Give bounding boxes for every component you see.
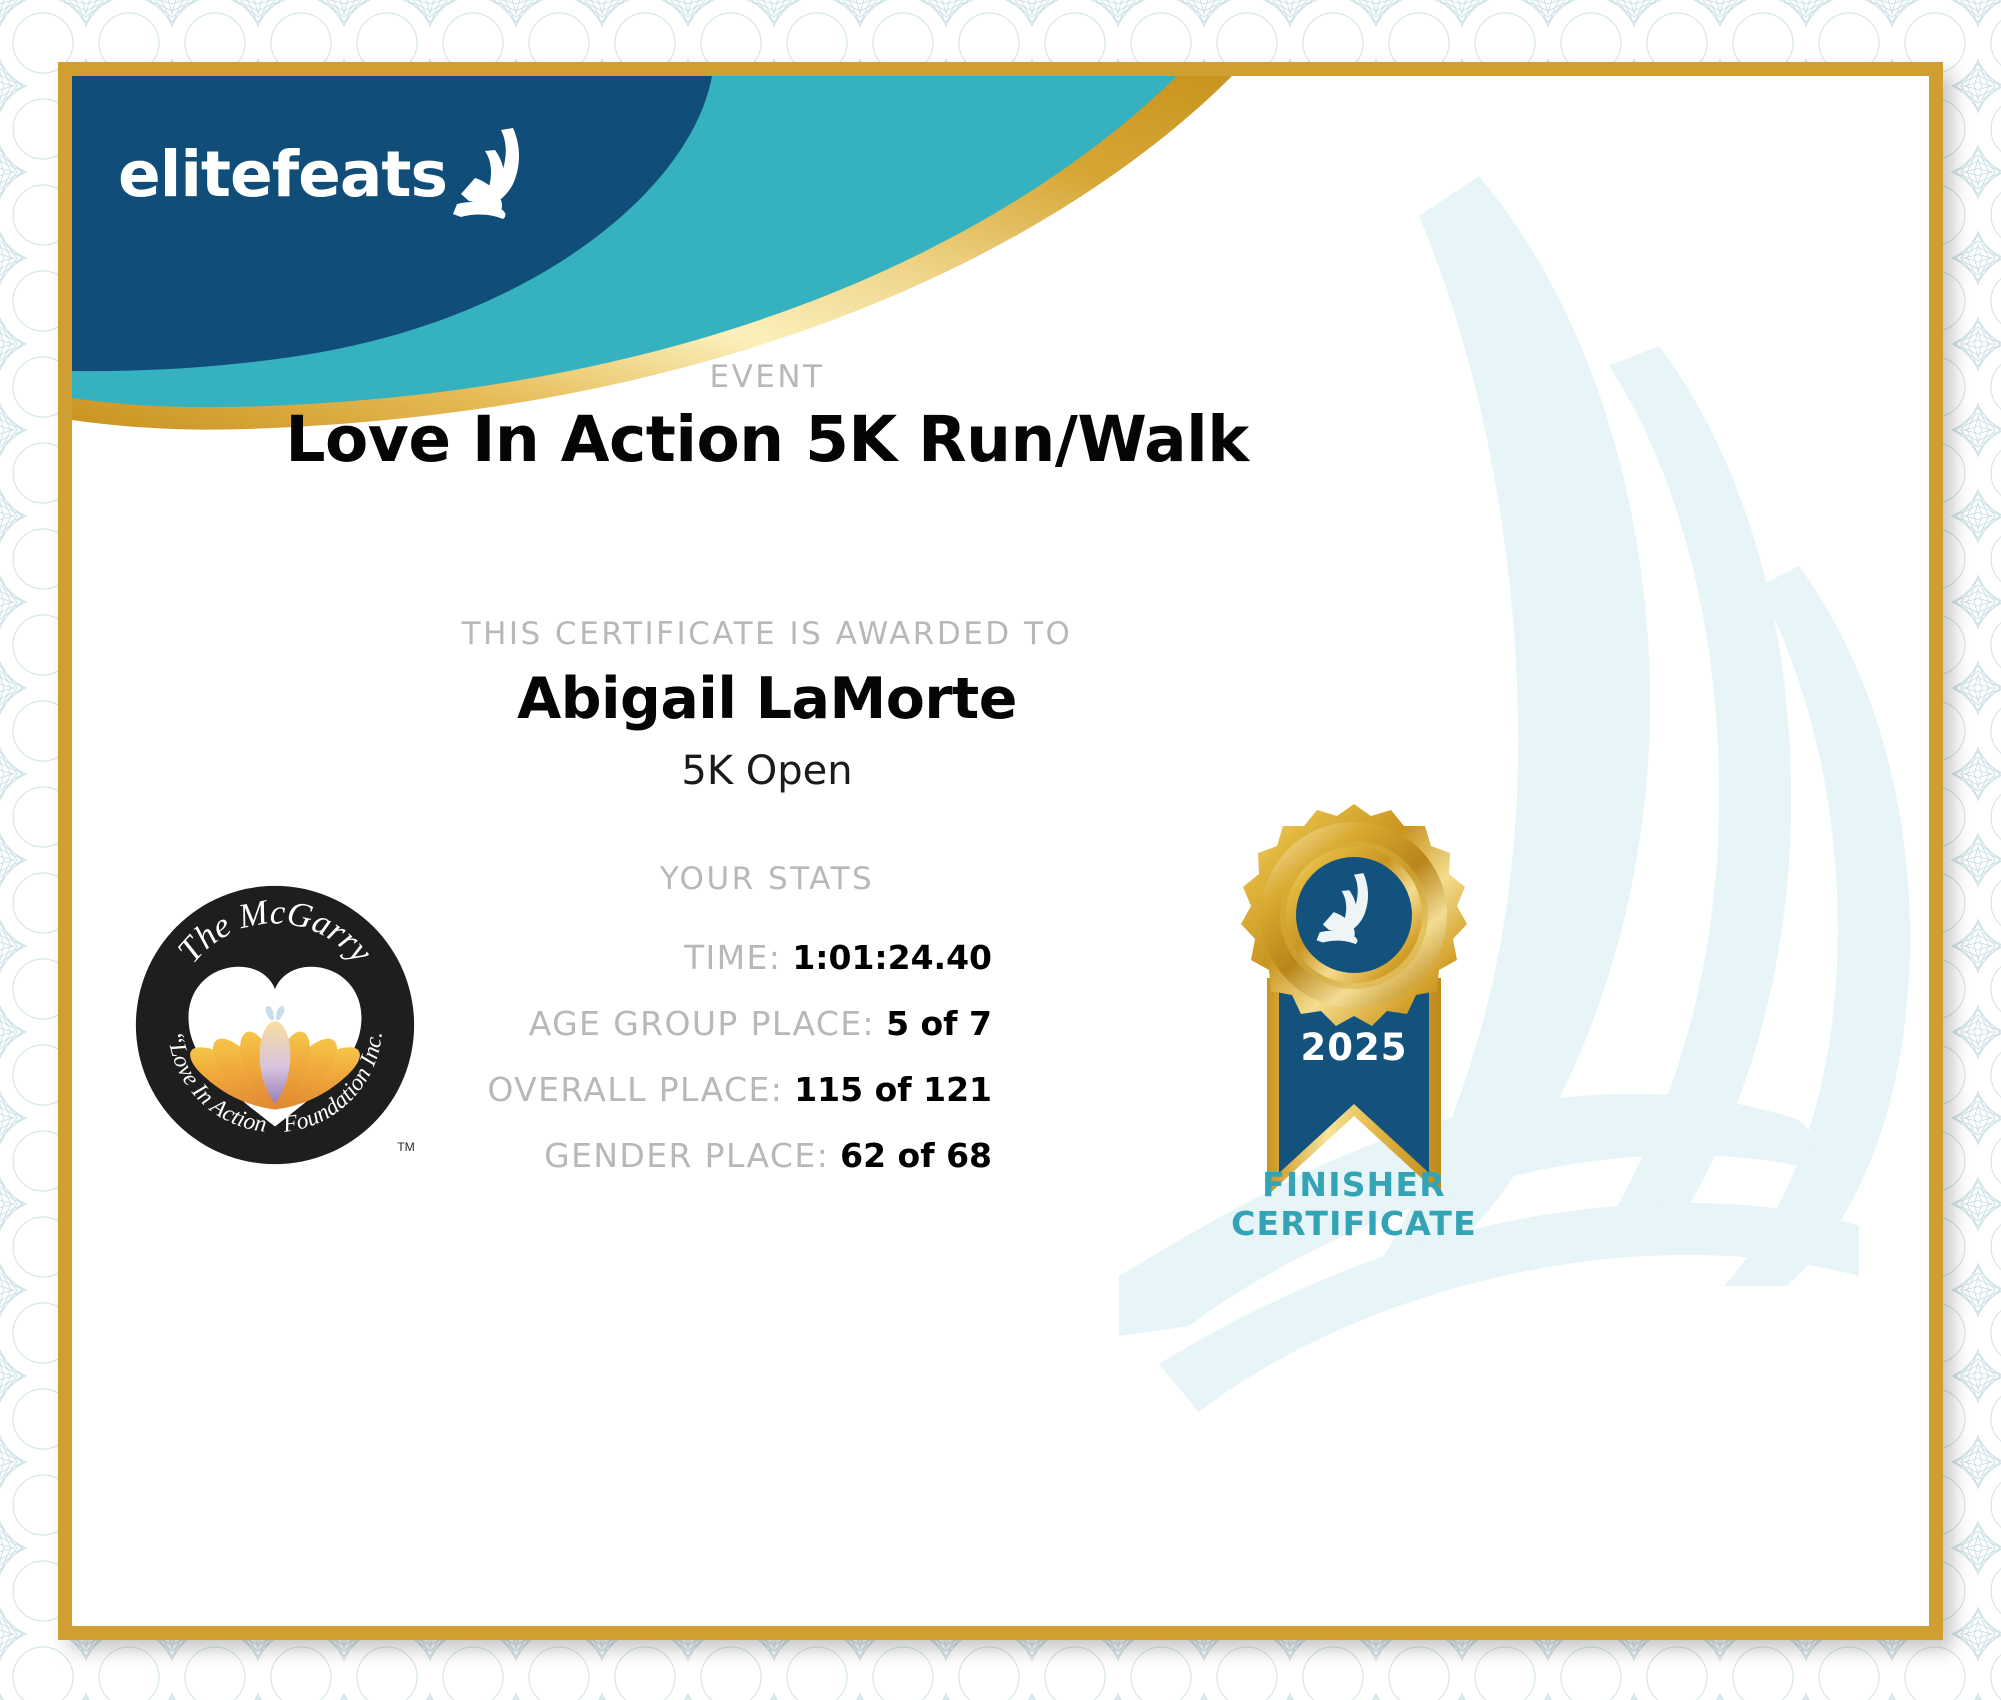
stat-key: AGE GROUP PLACE: [529, 1004, 875, 1043]
sponsor-logo: The McGarry “Love In Action” Foundation … [134, 884, 416, 1166]
stat-key: OVERALL PLACE: [487, 1070, 783, 1109]
awarded-to-label: THIS CERTIFICATE IS AWARDED TO [72, 616, 1462, 652]
event-title: Love In Action 5K Run/Walk [72, 403, 1462, 476]
finisher-seal: 2025 [1209, 798, 1499, 1228]
stat-value: 115 of 121 [794, 1070, 992, 1109]
finisher-caption-line2: CERTIFICATE [1169, 1205, 1539, 1244]
event-label: EVENT [72, 359, 1462, 395]
certificate-content: EVENT Love In Action 5K Run/Walk THIS CE… [72, 76, 1929, 1626]
finisher-caption-line1: FINISHER [1169, 1166, 1539, 1205]
seal-year: 2025 [1301, 1026, 1408, 1069]
stat-value: 1:01:24.40 [792, 938, 992, 977]
certificate-inner: elitefeats EVENT Love In Action 5K Run/W… [72, 76, 1929, 1626]
certificate-card: elitefeats EVENT Love In Action 5K Run/W… [58, 62, 1943, 1640]
finisher-caption: FINISHER CERTIFICATE [1169, 1166, 1539, 1244]
stat-key: GENDER PLACE: [544, 1136, 829, 1175]
stat-value: 62 of 68 [840, 1136, 992, 1175]
stat-value: 5 of 7 [886, 1004, 992, 1043]
recipient-name: Abigail LaMorte [72, 666, 1462, 732]
recipient-division: 5K Open [72, 748, 1462, 794]
stat-key: TIME: [684, 938, 781, 977]
sponsor-trademark: TM [397, 1140, 415, 1154]
